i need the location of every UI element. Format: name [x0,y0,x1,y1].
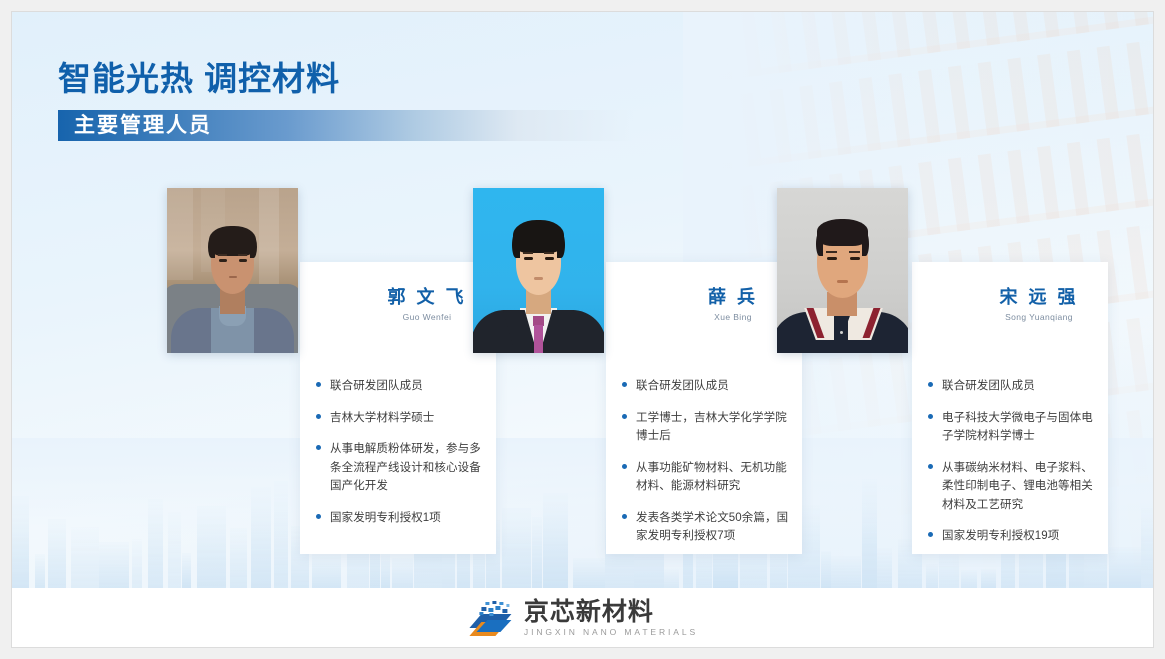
person-name-en: Guo Wenfei [371,312,483,323]
list-item: 联合研发团队成员 [316,376,485,395]
list-item-text: 吉林大学材料学硕士 [330,412,434,424]
portrait-photo [473,188,604,353]
portrait-photo [167,188,298,353]
person-name-block: 宋 远 强 Song Yuanqiang [983,286,1095,323]
bullet-dot-icon [622,464,627,469]
list-item: 从事电解质粉体研发，参与多条全流程产线设计和核心设备国产化开发 [316,439,485,495]
list-item-text: 电子科技大学微电子与固体电子学院材料学博士 [942,412,1093,443]
bullet-dot-icon [928,382,933,387]
person-name-cn: 薛 兵 [677,286,789,308]
bullet-dot-icon [316,514,321,519]
list-item-text: 国家发明专利授权19项 [942,530,1059,542]
section-title: 主要管理人员 [74,113,212,138]
person-bullet-list: 联合研发团队成员 电子科技大学微电子与固体电子学院材料学博士 从事碳纳米材料、电… [928,376,1097,545]
list-item-text: 发表各类学术论文50余篇，国家发明专利授权7项 [636,512,788,543]
person-name-en: Xue Bing [677,312,789,323]
footer-logo-text: 京芯新材料 JINGXIN NANO MATERIALS [524,599,698,638]
list-item: 从事碳纳米材料、电子浆料、柔性印制电子、锂电池等相关材料及工艺研究 [928,458,1097,514]
list-item: 国家发明专利授权19项 [928,526,1097,545]
list-item: 发表各类学术论文50余篇，国家发明专利授权7项 [622,508,791,545]
bullet-dot-icon [622,414,627,419]
portrait-photo [777,188,908,353]
person-name-en: Song Yuanqiang [983,312,1095,323]
list-item: 电子科技大学微电子与固体电子学院材料学博士 [928,408,1097,445]
list-item-text: 国家发明专利授权1项 [330,512,441,524]
person-name-cn: 宋 远 强 [983,286,1095,308]
bullet-dot-icon [928,414,933,419]
bullet-dot-icon [928,464,933,469]
list-item: 联合研发团队成员 [622,376,791,395]
list-item: 从事功能矿物材料、无机功能材料、能源材料研究 [622,458,791,495]
list-item-text: 从事碳纳米材料、电子浆料、柔性印制电子、锂电池等相关材料及工艺研究 [942,462,1093,511]
person-name-cn: 郭 文 飞 [371,286,483,308]
list-item-text: 联合研发团队成员 [636,380,729,392]
jingxin-pixel-swoosh-logo-icon [467,598,513,638]
bullet-dot-icon [316,382,321,387]
bullet-dot-icon [622,382,627,387]
page-title: 智能光热 调控材料 [58,52,340,100]
person-bullet-list: 联合研发团队成员 工学博士，吉林大学化学学院博士后 从事功能矿物材料、无机功能材… [622,376,791,545]
bullet-dot-icon [316,445,321,450]
list-item: 国家发明专利授权1项 [316,508,485,527]
list-item-text: 联合研发团队成员 [330,380,423,392]
list-item-text: 从事电解质粉体研发，参与多条全流程产线设计和核心设备国产化开发 [330,443,481,492]
company-name-en: JINGXIN NANO MATERIALS [524,627,698,638]
person-card[interactable]: 宋 远 强 Song Yuanqiang 联合研发团队成员 电子科技大学微电子与… [912,262,1108,554]
bullet-dot-icon [622,514,627,519]
company-name-cn: 京芯新材料 [524,599,698,626]
list-item-text: 工学博士，吉林大学化学学院博士后 [636,412,787,443]
list-item: 联合研发团队成员 [928,376,1097,395]
bullet-dot-icon [316,414,321,419]
bullet-dot-icon [928,532,933,537]
list-item-text: 从事功能矿物材料、无机功能材料、能源材料研究 [636,462,787,493]
footer-logo: 京芯新材料 JINGXIN NANO MATERIALS [467,598,698,638]
person-bullet-list: 联合研发团队成员 吉林大学材料学硕士 从事电解质粉体研发，参与多条全流程产线设计… [316,376,485,526]
list-item: 吉林大学材料学硕士 [316,408,485,427]
list-item: 工学博士，吉林大学化学学院博士后 [622,408,791,445]
presentation-slide: 智能光热 调控材料 主要管理人员 郭 文 飞 Guo Wenfei 联合研发团队… [12,12,1153,647]
list-item-text: 联合研发团队成员 [942,380,1035,392]
person-name-block: 郭 文 飞 Guo Wenfei [371,286,483,323]
person-name-block: 薛 兵 Xue Bing [677,286,789,323]
person-card[interactable]: 郭 文 飞 Guo Wenfei 联合研发团队成员 吉林大学材料学硕士 从事电解… [300,262,496,554]
person-card[interactable]: 薛 兵 Xue Bing 联合研发团队成员 工学博士，吉林大学化学学院博士后 从… [606,262,802,554]
